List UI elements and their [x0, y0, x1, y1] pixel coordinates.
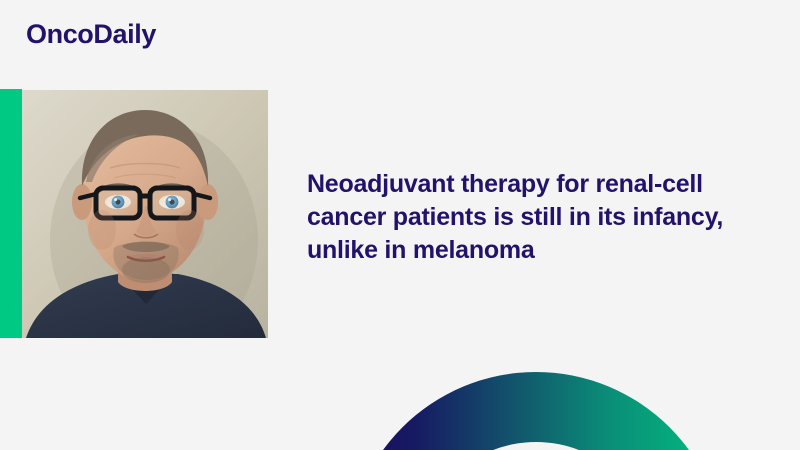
brand-logo: OncoDaily: [26, 21, 156, 48]
accent-bar: [0, 89, 22, 338]
headline-text: Neoadjuvant therapy for renal-cell cance…: [307, 168, 757, 267]
slide-canvas: OncoDaily: [0, 0, 800, 450]
decorative-ring: [0, 360, 800, 450]
portrait-photo: [22, 90, 268, 338]
